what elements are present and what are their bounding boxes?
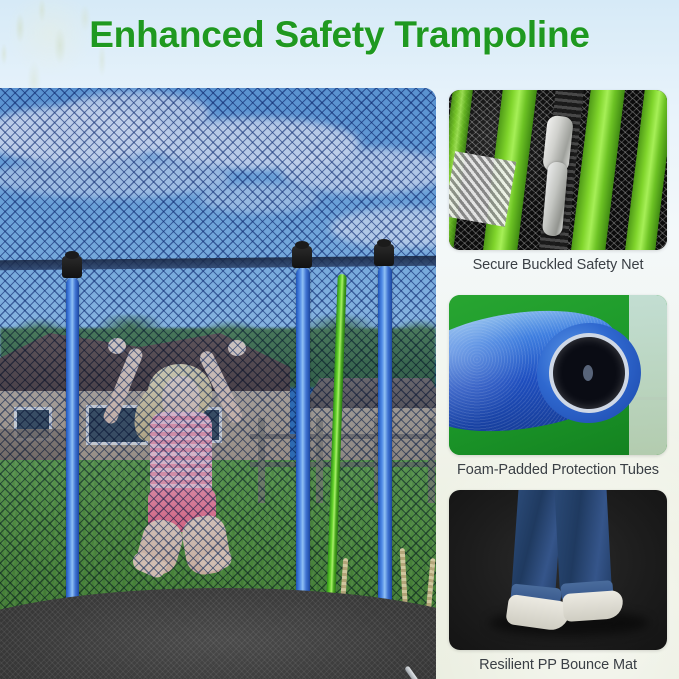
pole-cap [292,246,312,268]
page-title: Enhanced Safety Trampoline [0,14,679,56]
bounce-mat-thumbnail[interactable] [449,490,667,650]
feature-panel-safety-net: Secure Buckled Safety Net [449,90,667,273]
pole-cap [62,256,82,278]
protection-tubes-thumbnail[interactable] [449,295,667,455]
trampoline-hero-photo [0,88,436,679]
feature-panel-protection-tubes: Foam-Padded Protection Tubes [449,295,667,478]
feature-caption-safety-net: Secure Buckled Safety Net [449,257,667,273]
safety-net-thumbnail[interactable] [449,90,667,250]
product-feature-image: Enhanced Safety Trampoline [0,0,679,679]
trampoline-bounce-mat [0,588,436,679]
pole-cap [374,244,394,266]
feature-caption-bounce-mat: Resilient PP Bounce Mat [449,657,667,673]
feature-panel-bounce-mat: Resilient PP Bounce Mat [449,490,667,673]
feature-caption-protection-tubes: Foam-Padded Protection Tubes [449,462,667,478]
